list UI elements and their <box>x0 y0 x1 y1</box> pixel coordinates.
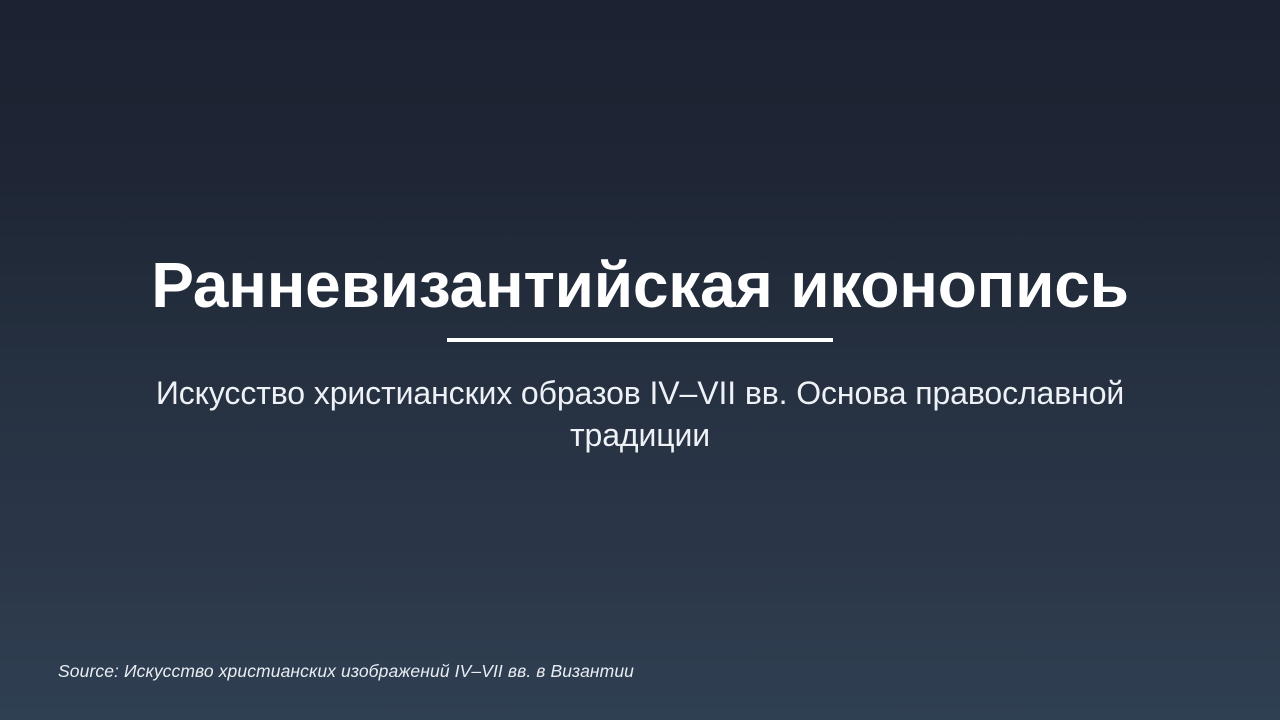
title-divider <box>447 338 833 342</box>
source-label: Source: <box>58 661 119 681</box>
title-slide: Ранневизантийская иконопись Искусство хр… <box>0 0 1280 720</box>
page-title: Ранневизантийская иконопись <box>111 246 1169 324</box>
title-block: Ранневизантийская иконопись Искусство хр… <box>0 246 1280 456</box>
source-title: Искусство христианских изображений IV–VI… <box>124 661 634 681</box>
source-citation: Source: Искусство христианских изображен… <box>58 660 634 682</box>
slide-subtitle: Искусство христианских образов IV–VII вв… <box>130 372 1150 456</box>
